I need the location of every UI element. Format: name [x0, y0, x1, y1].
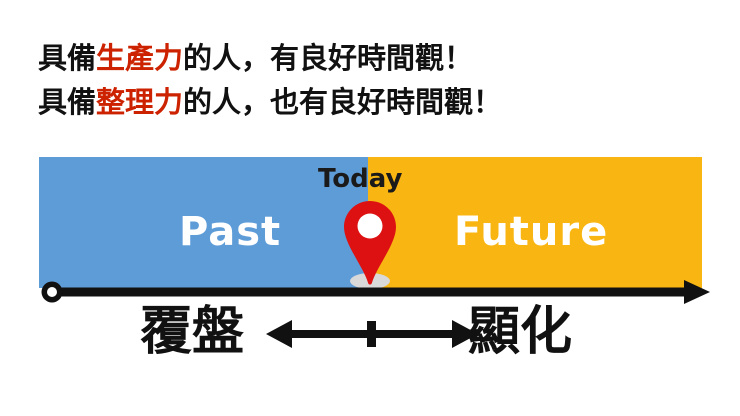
today-label: Today	[318, 164, 402, 194]
slide-canvas: 具備生產力的人，有良好時間觀！ 具備整理力的人，也有良好時間觀！ Past Fu…	[0, 0, 740, 416]
headline-line-2-part-3: 的人，也有良好時間觀！	[183, 85, 502, 119]
review-label: 覆盤	[140, 302, 244, 362]
headline-line-1-highlight: 生產力	[96, 41, 183, 75]
headline-line-1-part-3: 的人，有良好時間觀！	[183, 41, 473, 75]
bottom-annotation-row: 覆盤 顯化	[0, 296, 740, 376]
future-label: Future	[454, 209, 608, 255]
double-headed-arrow-icon	[266, 314, 478, 354]
center-tick-icon	[367, 321, 376, 347]
headline-block: 具備生產力的人，有良好時間觀！ 具備整理力的人，也有良好時間觀！	[38, 36, 698, 124]
headline-line-2: 具備整理力的人，也有良好時間觀！	[38, 80, 698, 124]
headline-line-1-part-1: 具備	[38, 41, 96, 75]
headline-line-1: 具備生產力的人，有良好時間觀！	[38, 36, 698, 80]
headline-line-2-highlight: 整理力	[96, 85, 183, 119]
past-label: Past	[179, 209, 281, 255]
manifest-label: 顯化	[468, 302, 572, 362]
map-pin-icon	[341, 198, 399, 290]
headline-line-2-part-1: 具備	[38, 85, 96, 119]
